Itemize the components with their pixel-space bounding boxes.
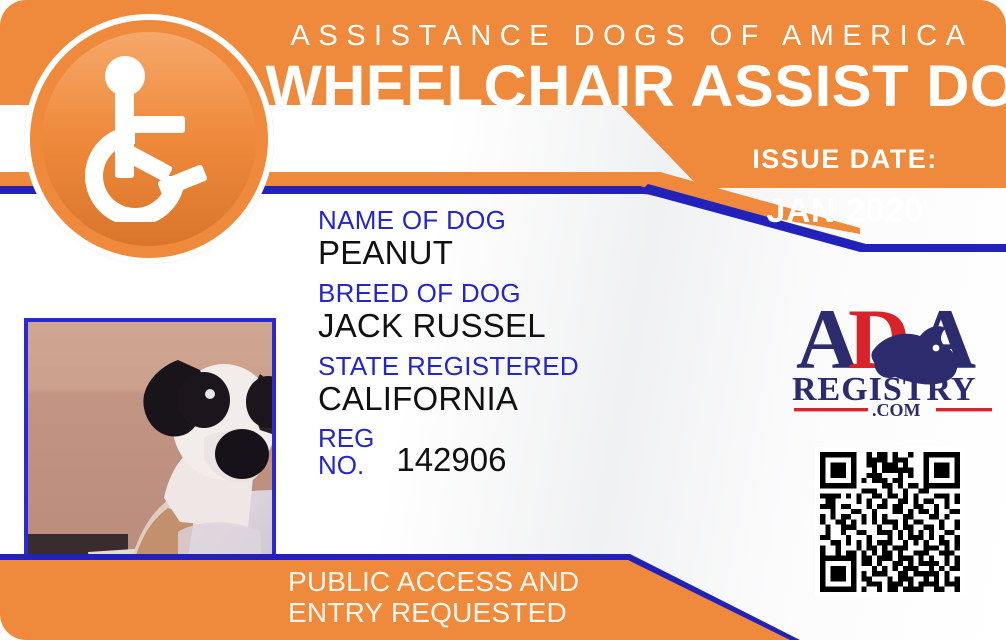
accessibility-emblem [24, 14, 274, 264]
wheelchair-icon [79, 56, 221, 222]
ada-registry-logo-mark: A D A REGISTRY .COM [786, 296, 998, 416]
field-registration: REG NO. 142906 [318, 425, 648, 480]
field-label-reg-line1: REG [318, 425, 374, 452]
field-label-breed: BREED OF DOG [318, 279, 648, 307]
field-label-name: NAME OF DOG [318, 206, 648, 234]
service-dog-id-card: ASSISTANCE DOGS OF AMERICA WHEELCHAIR AS… [0, 0, 1006, 640]
issue-date-value: JAN 2020 [700, 192, 990, 231]
public-access-notice: PUBLIC ACCESS AND ENTRY REQUESTED [288, 566, 648, 629]
issue-date-label: ISSUE DATE: [700, 144, 990, 175]
logo-rule-left [794, 408, 868, 411]
field-label-reg: REG NO. [318, 425, 374, 480]
qr-code-icon[interactable] [815, 447, 965, 597]
qr-code-image [815, 447, 965, 597]
card-fields: NAME OF DOG PEANUT BREED OF DOG JACK RUS… [318, 206, 648, 480]
logo-rule-right [936, 408, 992, 411]
logo-dot-com: .COM [872, 400, 921, 416]
organization-name: ASSISTANCE DOGS OF AMERICA [276, 20, 988, 53]
field-value-breed: JACK RUSSEL [318, 307, 648, 345]
field-value-name: PEANUT [318, 234, 648, 272]
field-value-state: CALIFORNIA [318, 380, 648, 418]
public-access-notice-line1: PUBLIC ACCESS AND [288, 566, 648, 597]
field-value-reg: 142906 [396, 441, 506, 480]
field-label-state: STATE REGISTERED [318, 352, 648, 380]
field-label-reg-line2: NO. [318, 452, 374, 479]
public-access-notice-line2: ENTRY REQUESTED [288, 597, 648, 628]
card-title: WHEELCHAIR ASSIST DOG [265, 58, 998, 116]
ada-registry-logo: A D A REGISTRY .COM [786, 296, 998, 416]
